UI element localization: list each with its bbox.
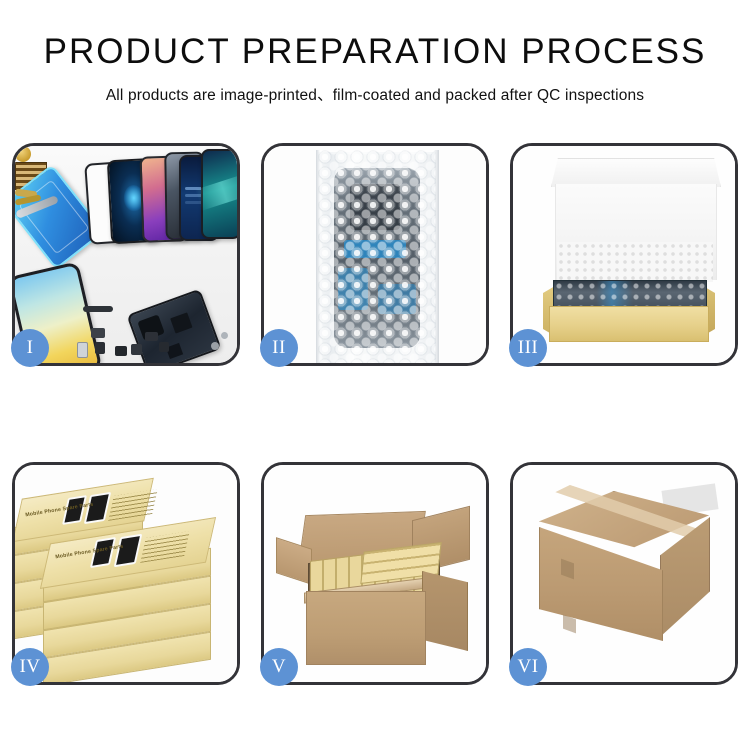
step-5-image (264, 465, 486, 682)
part-small-7-icon (159, 342, 169, 352)
products-photo (15, 146, 237, 363)
filled-carton-photo (264, 465, 486, 682)
step-4-image: Mobile Phone Spare Parts Mobile Phone Sp… (15, 465, 237, 682)
part-small-2-icon (95, 342, 105, 354)
sealed-carton-photo (513, 465, 735, 682)
box-front-panel (549, 306, 709, 342)
box-lid-back (551, 158, 721, 187)
sealed-carton-front (539, 527, 663, 641)
carton-side-panel (422, 571, 468, 651)
step-badge-4: IV (11, 648, 49, 686)
part-vibrator-icon (15, 146, 31, 162)
process-step-3: III (510, 143, 738, 366)
part-screw-1-icon (211, 342, 219, 350)
step-2-image (264, 146, 486, 363)
step-badge-2: II (260, 329, 298, 367)
phone-display-teal-icon (201, 149, 237, 239)
part-small-1-icon (91, 328, 105, 338)
process-step-5: V (261, 462, 489, 685)
step-badge-6: VI (509, 648, 547, 686)
header: PRODUCT PREPARATION PROCESS All products… (0, 34, 750, 105)
page-subtitle: All products are image-printed、film-coat… (0, 83, 750, 105)
step-badge-5: V (260, 648, 298, 686)
bubble-wrap-photo (264, 146, 486, 363)
film-edge-right (434, 150, 439, 363)
step-1-image (15, 146, 237, 363)
bubble-pattern-offset (318, 150, 436, 363)
inner-box-photo (513, 146, 735, 363)
process-step-2: II (261, 143, 489, 366)
process-grid: I II (12, 143, 738, 685)
step-badge-3: III (509, 329, 547, 367)
part-strip-icon (83, 306, 113, 312)
infographic-page: PRODUCT PREPARATION PROCESS All products… (0, 0, 750, 750)
step-6-image (513, 465, 735, 682)
carton-front-panel (306, 591, 426, 665)
film-edge-left (316, 150, 320, 363)
part-small-5-icon (145, 332, 158, 341)
part-small-3-icon (115, 346, 127, 356)
page-title: PRODUCT PREPARATION PROCESS (0, 34, 750, 69)
process-step-1: I (12, 143, 240, 366)
process-step-4: Mobile Phone Spare Parts Mobile Phone Sp… (12, 462, 240, 685)
step-badge-1: I (11, 329, 49, 367)
box-stack: Mobile Phone Spare Parts Mobile Phone Sp… (15, 465, 237, 682)
part-sim-tray-icon (77, 342, 88, 358)
process-step-6: VI (510, 462, 738, 685)
step-3-image (513, 146, 735, 363)
retail-box-stack-photo: Mobile Phone Spare Parts Mobile Phone Sp… (15, 465, 237, 682)
foam-lining (557, 242, 713, 282)
part-small-4-icon (131, 344, 142, 355)
part-screw-2-icon (221, 332, 228, 339)
